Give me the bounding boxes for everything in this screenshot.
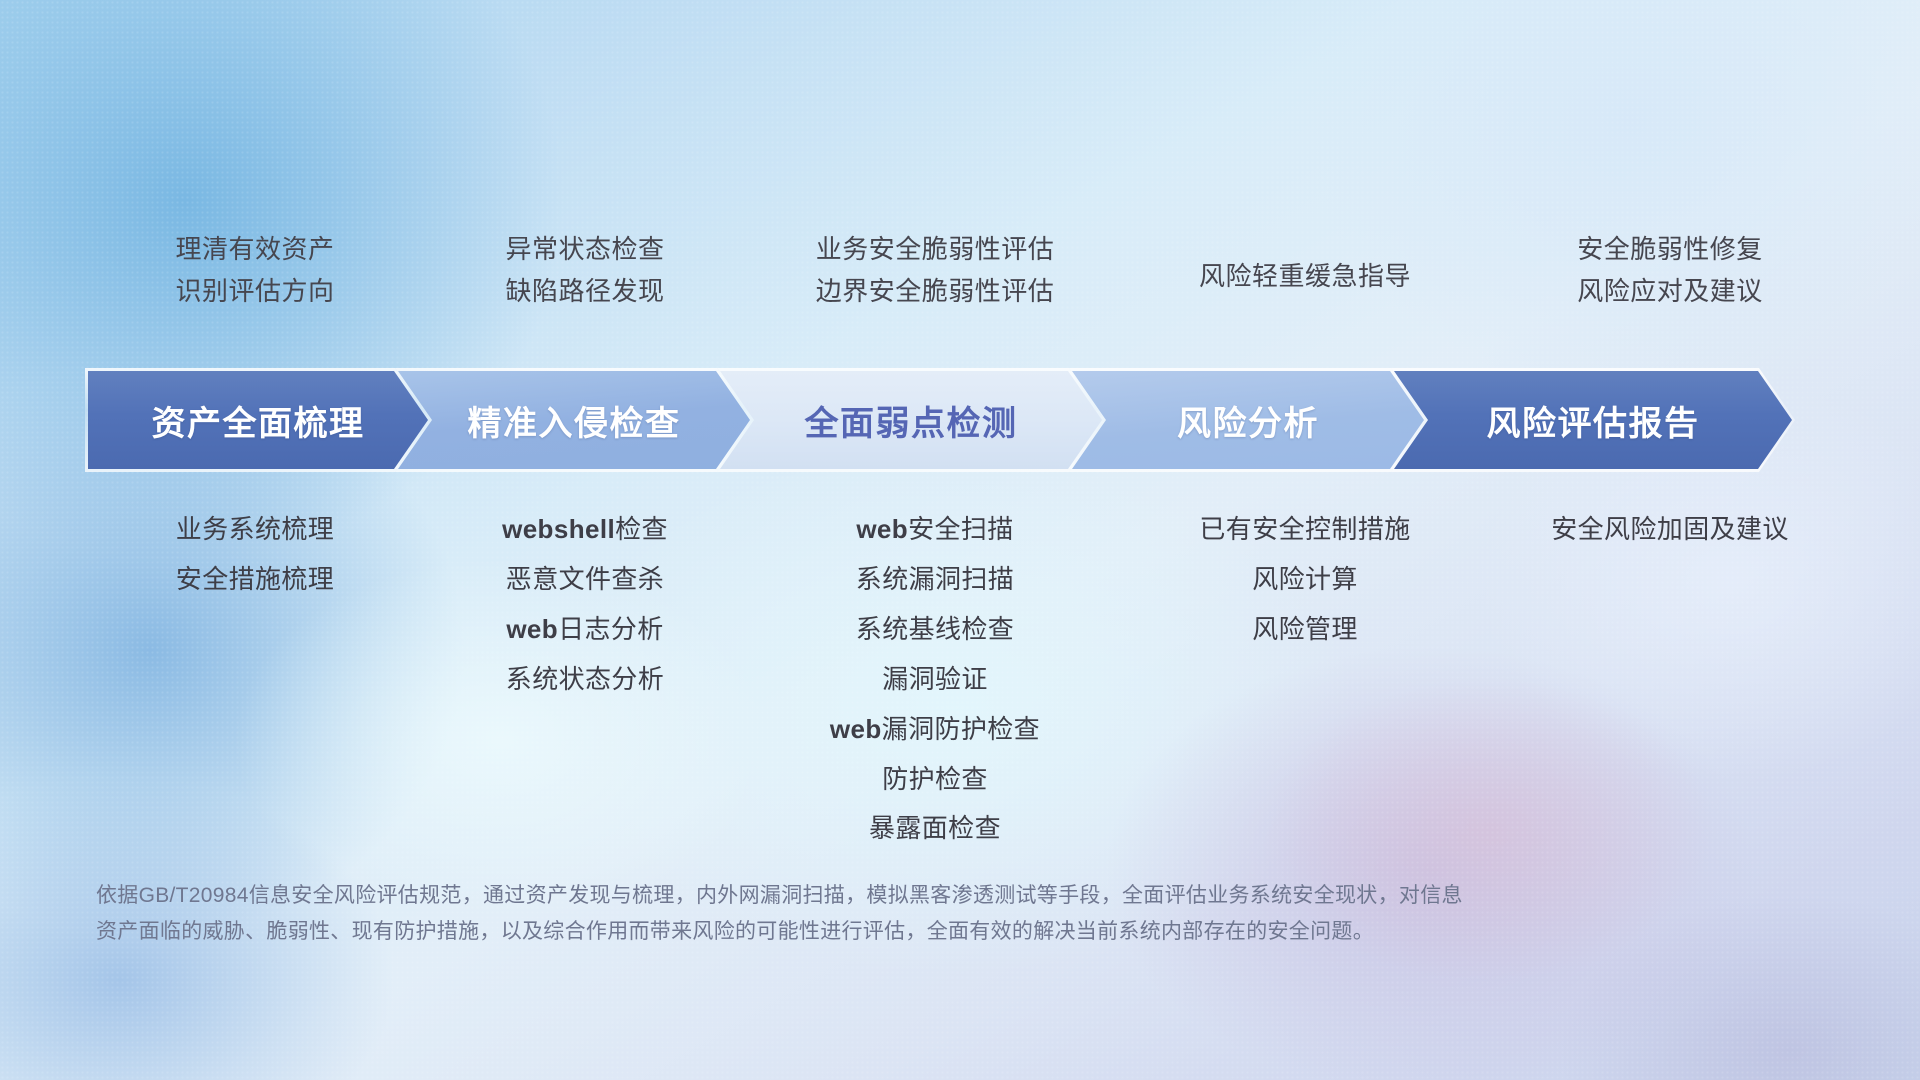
top-label-line: 业务安全脆弱性评估 [816, 228, 1055, 270]
bottom-label-item: 已有安全控制措施 [1199, 505, 1410, 555]
bottom-label-item: 安全措施梳理 [176, 555, 334, 605]
bottom-label-rest: 风险计算 [1252, 564, 1358, 594]
bottom-label-group-4: 已有安全控制措施 风险计算 风险管理 [1120, 505, 1490, 854]
bottom-label-group-3: web安全扫描 系统漏洞扫描 系统基线检查 漏洞验证 web漏洞防护检查 防护检… [750, 505, 1120, 854]
top-label-group-5: 安全脆弱性修复 风险应对及建议 [1490, 228, 1850, 324]
bottom-label-item: 风险管理 [1252, 605, 1358, 655]
top-label-group-3: 业务安全脆弱性评估 边界安全脆弱性评估 [750, 228, 1120, 324]
bottom-label-group-5: 安全风险加固及建议 [1490, 505, 1850, 854]
bottom-label-rest: 安全措施梳理 [176, 564, 334, 594]
top-label-line: 异常状态检查 [505, 228, 664, 270]
bottom-label-rest: 系统漏洞扫描 [856, 564, 1014, 594]
bottom-label-item: 系统漏洞扫描 [856, 555, 1014, 605]
bottom-label-item: 暴露面检查 [869, 804, 1001, 854]
footer-description: 依据GB/T20984信息安全风险评估规范，通过资产发现与梳理，内外网漏洞扫描，… [96, 878, 1616, 950]
bottom-label-rest: 安全风险加固及建议 [1551, 514, 1789, 544]
bottom-label-item: 系统状态分析 [506, 655, 664, 705]
bottom-label-rest: 风险管理 [1252, 614, 1358, 644]
stage-arrow-3[interactable]: 全面弱点检测 [720, 371, 1102, 469]
top-label-line: 缺陷路径发现 [505, 270, 664, 312]
top-label-group-1: 理清有效资产 识别评估方向 [90, 228, 420, 324]
stage-title-3: 全面弱点检测 [805, 396, 1018, 445]
stage-arrow-4[interactable]: 风险分析 [1072, 371, 1424, 469]
stage-title-1: 资产全面梳理 [152, 396, 365, 445]
top-label-line: 边界安全脆弱性评估 [816, 270, 1055, 312]
bottom-label-item: 风险计算 [1252, 555, 1358, 605]
top-label-line: 风险轻重缓急指导 [1199, 255, 1411, 297]
bottom-label-rest: 漏洞防护检查 [882, 714, 1040, 744]
bottom-label-rest: 系统状态分析 [506, 664, 664, 694]
bottom-label-rest: 日志分析 [558, 614, 664, 644]
stage-arrow-2[interactable]: 精准入侵检查 [398, 371, 750, 469]
bottom-label-rest: 防护检查 [882, 764, 988, 794]
footer-line-1: 依据GB/T20984信息安全风险评估规范，通过资产发现与梳理，内外网漏洞扫描，… [96, 878, 1616, 914]
bottom-label-item: 漏洞验证 [882, 655, 988, 705]
stage-title-5: 风险评估报告 [1487, 396, 1700, 445]
bottom-label-item: web漏洞防护检查 [830, 705, 1040, 755]
bottom-label-item: 系统基线检查 [856, 605, 1014, 655]
bottom-label-item: 防护检查 [882, 755, 988, 805]
bottom-label-rest: 安全扫描 [908, 514, 1014, 544]
top-label-line: 风险应对及建议 [1577, 270, 1763, 312]
bottom-label-rest: 漏洞验证 [882, 664, 988, 694]
bottom-label-rest: 检查 [615, 514, 668, 544]
bottom-label-rest: 恶意文件查杀 [506, 564, 664, 594]
bottom-label-item: web日志分析 [506, 605, 663, 655]
process-arrow-band: 资产全面梳理 精准入侵检查 全面弱点检测 风险分析 风险评估报告 [88, 371, 1850, 469]
bottom-label-rest: 暴露面检查 [869, 813, 1001, 843]
top-label-group-2: 异常状态检查 缺陷路径发现 [420, 228, 750, 324]
bottom-label-rest: 业务系统梳理 [176, 514, 334, 544]
bottom-label-item: 恶意文件查杀 [506, 555, 664, 605]
bottom-label-group-1: 业务系统梳理 安全措施梳理 [90, 505, 420, 854]
bottom-label-bold: web [830, 714, 882, 744]
top-label-line: 理清有效资产 [175, 228, 334, 270]
bottom-label-group-2: webshell检查 恶意文件查杀 web日志分析 系统状态分析 [420, 505, 750, 854]
stage-title-2: 精准入侵检查 [468, 396, 681, 445]
bottom-label-item: 业务系统梳理 [176, 505, 334, 555]
bottom-label-bold: webshell [502, 514, 615, 544]
stage-arrow-1[interactable]: 资产全面梳理 [88, 371, 428, 469]
top-label-line: 安全脆弱性修复 [1577, 228, 1763, 270]
stage-title-4: 风险分析 [1177, 396, 1319, 445]
top-label-group-4: 风险轻重缓急指导 [1120, 228, 1490, 324]
footer-line-2: 资产面临的威胁、脆弱性、现有防护措施，以及综合作用而带来风险的可能性进行评估，全… [96, 914, 1616, 950]
bottom-label-item: web安全扫描 [856, 505, 1013, 555]
top-label-line: 识别评估方向 [175, 270, 334, 312]
bottom-label-row: 业务系统梳理 安全措施梳理 webshell检查 恶意文件查杀 web日志分析 … [90, 505, 1850, 854]
bottom-label-item: webshell检查 [502, 505, 668, 555]
bottom-label-item: 安全风险加固及建议 [1551, 505, 1789, 555]
bottom-label-rest: 已有安全控制措施 [1199, 514, 1410, 544]
bottom-label-bold: web [506, 614, 558, 644]
bottom-label-rest: 系统基线检查 [856, 614, 1014, 644]
bottom-label-bold: web [856, 514, 908, 544]
stage-arrow-5[interactable]: 风险评估报告 [1394, 371, 1792, 469]
top-label-row: 理清有效资产 识别评估方向 异常状态检查 缺陷路径发现 业务安全脆弱性评估 边界… [90, 228, 1850, 324]
